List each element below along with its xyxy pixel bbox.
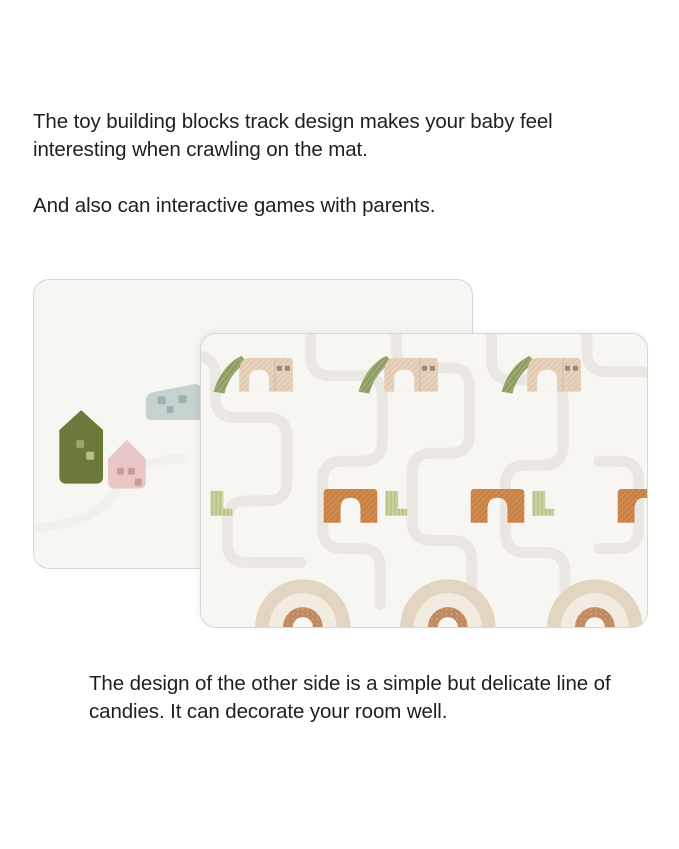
- orange-arch-block-2: [471, 489, 525, 523]
- top-paragraph-2: And also can interactive games with pare…: [33, 192, 643, 220]
- track-design-mat[interactable]: [200, 333, 648, 628]
- green-stairs-3: [532, 491, 554, 516]
- top-line-1: The toy building blocks track design mak…: [33, 110, 514, 133]
- top-line-3: And also can interactive games with pare…: [33, 194, 435, 217]
- green-stairs-2: [385, 491, 407, 516]
- tan-arch-block-1: [239, 358, 293, 392]
- rainbow-arch-2: [400, 579, 495, 627]
- pink-house-shape: [108, 440, 146, 489]
- green-house-shape: [59, 410, 103, 483]
- bottom-paragraph-1: The design of the other side is a simple…: [89, 670, 659, 726]
- blue-roof-shape: [146, 384, 204, 420]
- tan-arch-block-3: [527, 358, 581, 392]
- top-description-text: The toy building blocks track design mak…: [33, 108, 643, 220]
- rainbow-arch-1: [255, 579, 350, 627]
- orange-arch-block-1: [324, 489, 378, 523]
- bottom-description-text: The design of the other side is a simple…: [89, 670, 659, 726]
- bridge-block-1: [213, 356, 292, 394]
- bridge-block-3: [501, 356, 580, 394]
- top-paragraph-1: The toy building blocks track design mak…: [33, 108, 643, 164]
- product-description-page: The toy building blocks track design mak…: [0, 0, 679, 849]
- tan-arch-block-2: [384, 358, 438, 392]
- bridge-block-2: [358, 356, 437, 394]
- track-design-mat-artwork: [201, 334, 647, 627]
- bottom-line-1: The design of the other side is a simple…: [89, 672, 551, 695]
